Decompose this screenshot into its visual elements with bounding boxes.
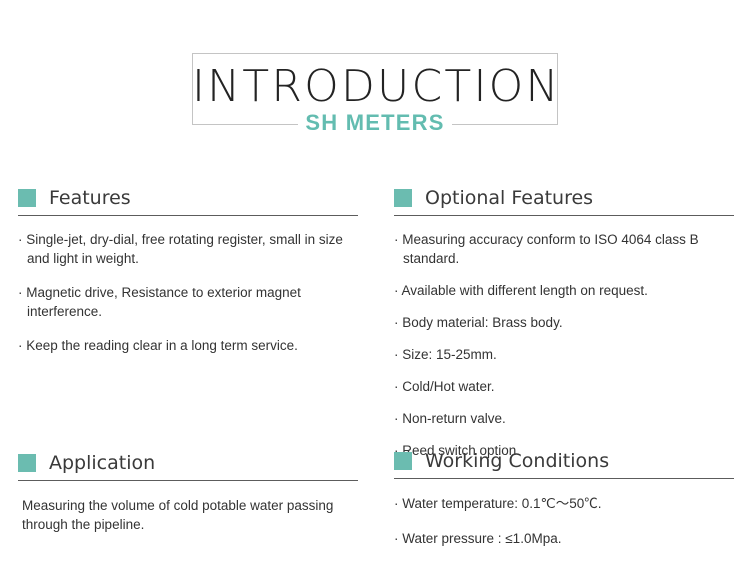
square-marker-icon — [18, 189, 36, 207]
section-application-header: Application — [18, 450, 358, 476]
list-item: · Single-jet, dry-dial, free rotating re… — [18, 230, 358, 268]
section-application-body: Measuring the volume of cold potable wat… — [18, 496, 358, 534]
section-working-conditions: Working Conditions · Water temperature: … — [394, 448, 734, 564]
page-subtitle: SH METERS — [192, 110, 558, 136]
list-item: · Magnetic drive, Resistance to exterior… — [18, 283, 358, 321]
page-title: INTRODUCTION — [192, 58, 558, 116]
list-item: · Size: 15-25mm. — [394, 345, 734, 364]
section-application-divider — [18, 480, 358, 481]
section-optional-features-body: · Measuring accuracy conform to ISO 4064… — [394, 230, 734, 460]
list-item: · Available with different length on req… — [394, 281, 734, 300]
page-header: INTRODUCTION SH METERS — [0, 0, 750, 160]
list-item: · Measuring accuracy conform to ISO 4064… — [394, 230, 734, 268]
section-application: Application Measuring the volume of cold… — [18, 450, 358, 534]
section-features-header: Features — [18, 185, 358, 211]
section-optional-features-title: Optional Features — [425, 187, 593, 209]
list-item: · Keep the reading clear in a long term … — [18, 336, 358, 355]
section-optional-features: Optional Features · Measuring accuracy c… — [394, 185, 734, 473]
section-features: Features · Single-jet, dry-dial, free ro… — [18, 185, 358, 370]
list-item: · Cold/Hot water. — [394, 377, 734, 396]
section-optional-features-header: Optional Features — [394, 185, 734, 211]
list-item: · Water temperature: 0.1℃〜50℃. — [394, 494, 734, 513]
list-item: · Body material: Brass body. — [394, 313, 734, 332]
page-subtitle-text: SH METERS — [298, 110, 451, 135]
section-optional-features-divider — [394, 215, 734, 216]
paragraph: Measuring the volume of cold potable wat… — [22, 496, 358, 534]
square-marker-icon — [394, 452, 412, 470]
section-working-conditions-body: · Water temperature: 0.1℃〜50℃. · Water p… — [394, 494, 734, 548]
section-application-title: Application — [49, 452, 155, 474]
section-features-title: Features — [49, 187, 131, 209]
section-working-conditions-divider — [394, 478, 734, 479]
list-item: · Non-return valve. — [394, 409, 734, 428]
square-marker-icon — [18, 454, 36, 472]
section-working-conditions-header: Working Conditions — [394, 448, 734, 474]
section-features-body: · Single-jet, dry-dial, free rotating re… — [18, 230, 358, 355]
section-features-divider — [18, 215, 358, 216]
list-item: · Water pressure : ≤1.0Mpa. — [394, 529, 734, 548]
section-working-conditions-title: Working Conditions — [425, 450, 609, 472]
square-marker-icon — [394, 189, 412, 207]
